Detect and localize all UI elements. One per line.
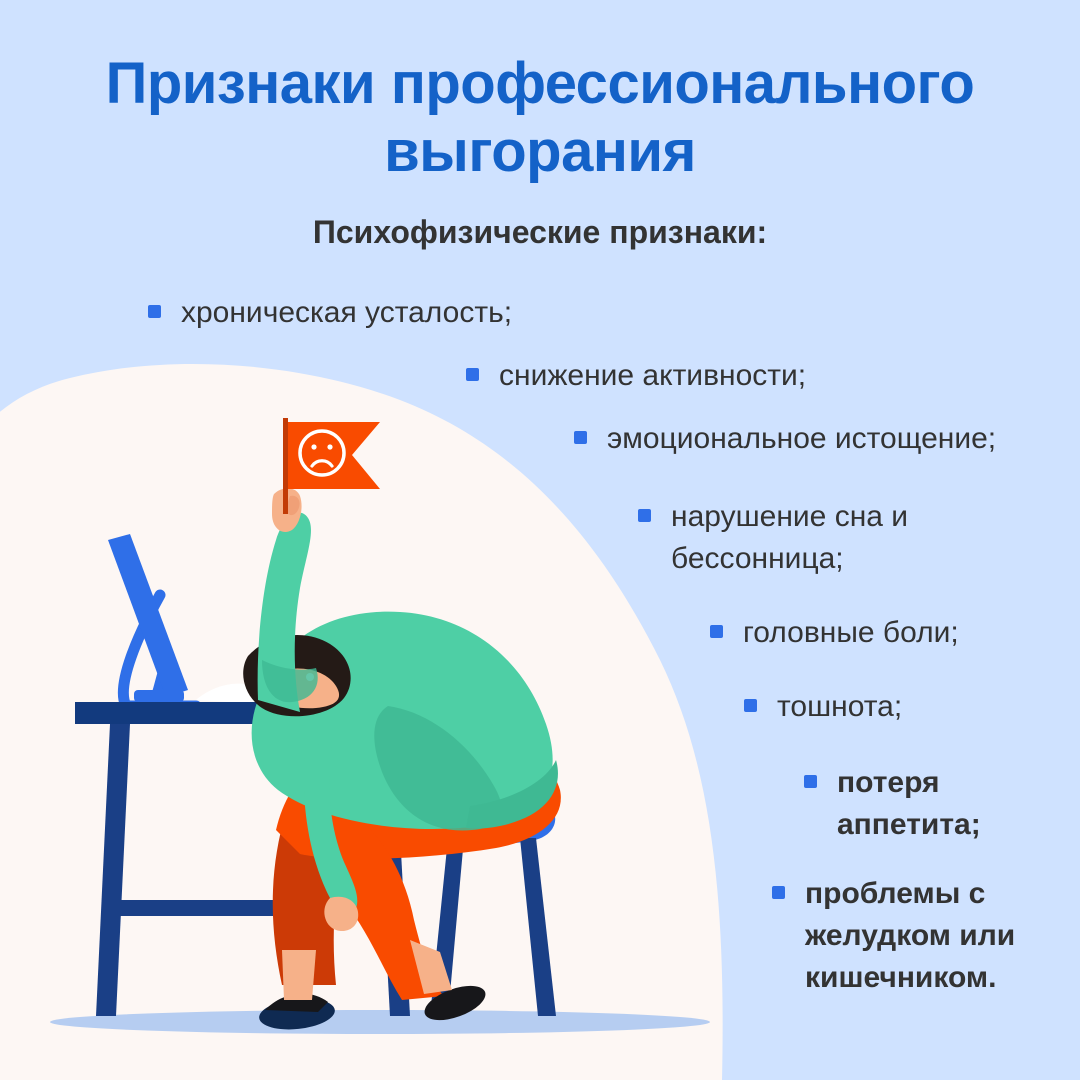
list-item-label: хроническая усталость; xyxy=(181,292,512,334)
bullet-square-icon xyxy=(772,886,785,899)
infographic-poster: Признаки профессионального выгорания Пси… xyxy=(0,0,1080,1080)
bullet-square-icon xyxy=(710,625,723,638)
list-item: тошнота; xyxy=(744,686,902,728)
bullet-square-icon xyxy=(744,699,757,712)
list-item: снижение активности; xyxy=(466,355,806,397)
list-item: хроническая усталость; xyxy=(148,292,512,334)
list-item-label: потеря аппетита; xyxy=(837,762,981,846)
list-item-label: снижение активности; xyxy=(499,355,806,397)
symptom-list: хроническая усталость;снижение активност… xyxy=(0,0,1080,1080)
bullet-square-icon xyxy=(574,431,587,444)
list-item: проблемы с желудком или кишечником. xyxy=(772,873,1015,999)
bullet-square-icon xyxy=(638,509,651,522)
list-item: эмоциональное истощение; xyxy=(574,418,996,460)
list-item-label: эмоциональное истощение; xyxy=(607,418,996,460)
poster-content: Признаки профессионального выгорания Пси… xyxy=(0,0,1080,1080)
list-item: головные боли; xyxy=(710,612,959,654)
list-item-label: тошнота; xyxy=(777,686,902,728)
bullet-square-icon xyxy=(148,305,161,318)
list-item: потеря аппетита; xyxy=(804,762,981,846)
list-item: нарушение сна и бессонница; xyxy=(638,496,908,580)
bullet-square-icon xyxy=(466,368,479,381)
list-item-label: проблемы с желудком или кишечником. xyxy=(805,873,1015,999)
list-item-label: головные боли; xyxy=(743,612,959,654)
bullet-square-icon xyxy=(804,775,817,788)
list-item-label: нарушение сна и бессонница; xyxy=(671,496,908,580)
